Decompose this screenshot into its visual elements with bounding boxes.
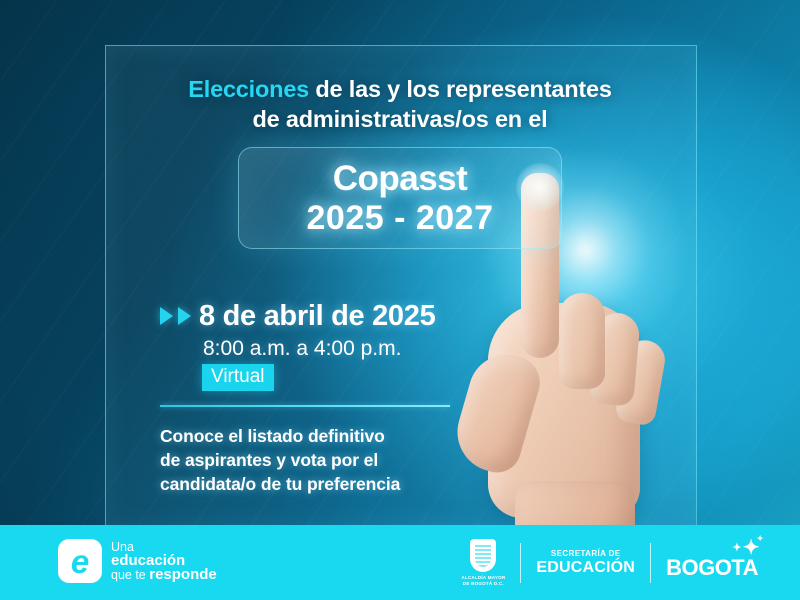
star-medium-icon: ✦ [732, 543, 741, 554]
blurb-line3: candidata/o de tu preferencia [160, 474, 400, 494]
status-badge: Virtual [202, 364, 274, 391]
headline-rest: de las y los representantes [309, 76, 612, 102]
education-logo-text: Una educación que te responde [111, 540, 217, 582]
star-small-icon: ✦ [757, 535, 763, 543]
alcaldia-logo: ALCALDÍA MAYOR DE BOGOTÁ D.C. [461, 539, 505, 586]
education-logo-line3-bold: responde [149, 566, 217, 583]
secretaria-line2: EDUCACIÓN [536, 559, 635, 577]
poster-canvas: Elecciones de las y los representantes d… [0, 0, 800, 600]
hand-finger-middle [559, 293, 605, 389]
double-arrow-icon [160, 307, 191, 325]
blurb-line2: de aspirantes y vota por el [160, 450, 378, 470]
education-campaign-logo: e Una educación que te responde [58, 539, 217, 583]
event-date-row: 8 de abril de 2025 [160, 300, 435, 332]
education-logo-line3-prefix: que te [111, 568, 149, 582]
blurb-line1: Conoce el listado definitivo [160, 426, 385, 446]
alcaldia-caption: ALCALDÍA MAYOR DE BOGOTÁ D.C. [461, 575, 505, 586]
government-logos: ALCALDÍA MAYOR DE BOGOTÁ D.C. SECRETARÍA… [461, 534, 758, 592]
footer-bar: e Una educación que te responde ALCALDÍA… [0, 525, 800, 600]
secretaria-educacion-logo: SECRETARÍA DE EDUCACIÓN [536, 549, 635, 577]
education-e-mark-icon: e [58, 539, 102, 583]
triangle-right-icon [178, 307, 191, 325]
page-title: Elecciones de las y los representantes d… [120, 74, 680, 134]
copasst-button[interactable]: Copasst 2025 - 2027 [238, 147, 562, 249]
shield-icon [470, 539, 496, 572]
logo-separator [650, 543, 651, 583]
bogota-logo: BOGOTA ✦ ✦ ✦ [666, 547, 758, 580]
event-date: 8 de abril de 2025 [199, 300, 435, 332]
divider [160, 405, 450, 407]
secretaria-line1: SECRETARÍA DE [536, 549, 635, 559]
stars-icon: ✦ ✦ ✦ [721, 538, 761, 562]
education-logo-line3: que te responde [111, 568, 217, 582]
headline-line2: de administrativas/os en el [253, 106, 548, 132]
call-to-action-text: Conoce el listado definitivo de aspirant… [160, 424, 470, 496]
copasst-title: Copasst [239, 159, 561, 199]
logo-separator [520, 543, 521, 583]
alcaldia-caption-line2: DE BOGOTÁ D.C. [461, 581, 505, 587]
triangle-right-icon [160, 307, 173, 325]
headline-highlight: Elecciones [188, 76, 309, 102]
event-time: 8:00 a.m. a 4:00 p.m. [203, 337, 401, 361]
copasst-years: 2025 - 2027 [239, 199, 561, 237]
letter-e-glyph: e [58, 539, 102, 583]
